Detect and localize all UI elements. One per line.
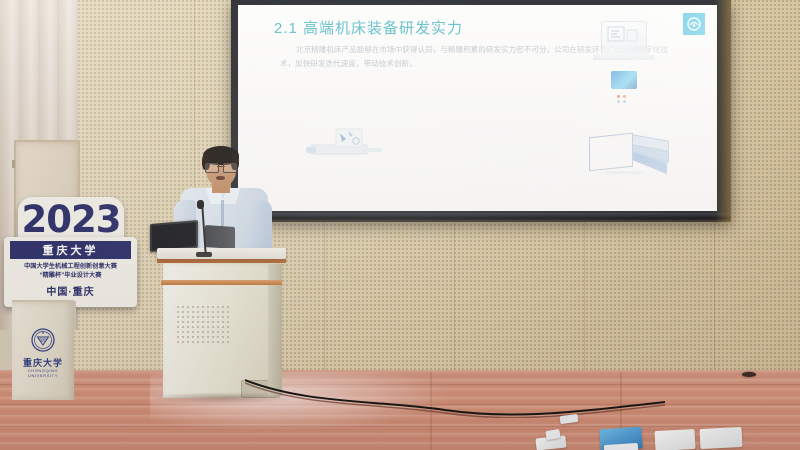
sign-university: 重庆大学 bbox=[10, 241, 131, 259]
slide-right-graphics bbox=[587, 13, 669, 203]
blue-gradient-badge-icon bbox=[611, 71, 637, 89]
floor-outlet-icon bbox=[742, 372, 756, 377]
chongqing-university-emblem bbox=[31, 328, 55, 352]
podium-top-surface bbox=[157, 248, 286, 259]
fanned-documents-graphic bbox=[587, 125, 669, 177]
sign-year: 2023 bbox=[18, 196, 124, 242]
podium-university-en: CHONGQING UNIVERSITY bbox=[12, 368, 74, 378]
power-cable bbox=[245, 378, 665, 418]
sign-detail-board: 重庆大学 中国大学生机械工程创新创意大赛 “精雕杯”毕业设计大赛 中国·重庆 bbox=[4, 237, 137, 307]
event-sign: 2023 重庆大学 中国大学生机械工程创新创意大赛 “精雕杯”毕业设计大赛 中国… bbox=[4, 197, 137, 307]
cnc-machine-illustration bbox=[306, 125, 384, 159]
projection-screen-frame: 2.1 高端机床装备研发实力 北京精雕机床产品能够在市场中获得认同，与精雕积累的… bbox=[231, 0, 731, 222]
podium bbox=[163, 248, 280, 398]
machine-render-base bbox=[593, 54, 655, 60]
floor-item-case-2[interactable] bbox=[655, 429, 696, 450]
laptop-screen bbox=[152, 222, 196, 250]
presenter-laptop-second[interactable] bbox=[205, 225, 235, 249]
sign-competition-line-2: “精雕杯”毕业设计大赛 bbox=[4, 270, 137, 279]
jingdiao-logo-icon bbox=[683, 13, 705, 35]
projected-slide: 2.1 高端机床装备研发实力 北京精雕机床产品能够在市场中获得认同，与精雕积累的… bbox=[238, 5, 717, 211]
slide-caption-dots bbox=[611, 95, 639, 105]
sign-competition-line-1: 中国大学生机械工程创新创意大赛 bbox=[4, 261, 137, 270]
machine-render-thumbnail bbox=[601, 21, 647, 57]
floor-item-case-3[interactable] bbox=[700, 427, 743, 449]
podium-lower-trim bbox=[161, 280, 282, 285]
sign-year-board: 2023 bbox=[18, 197, 124, 241]
presentation-scene: 2.1 高端机床装备研发实力 北京精雕机床产品能够在市场中获得认同，与精雕积累的… bbox=[0, 0, 800, 450]
sign-location: 中国·重庆 bbox=[4, 283, 137, 298]
floor-item-blue-panel-base[interactable] bbox=[604, 443, 638, 450]
university-emblem-panel: 重庆大学 CHONGQING UNIVERSITY bbox=[12, 300, 74, 400]
podium-vent bbox=[177, 306, 229, 344]
microphone-head-icon bbox=[197, 200, 204, 209]
glasses-icon bbox=[205, 163, 237, 171]
speaker-mouth bbox=[216, 176, 225, 180]
slide-title: 2.1 高端机床装备研发实力 bbox=[274, 17, 463, 38]
